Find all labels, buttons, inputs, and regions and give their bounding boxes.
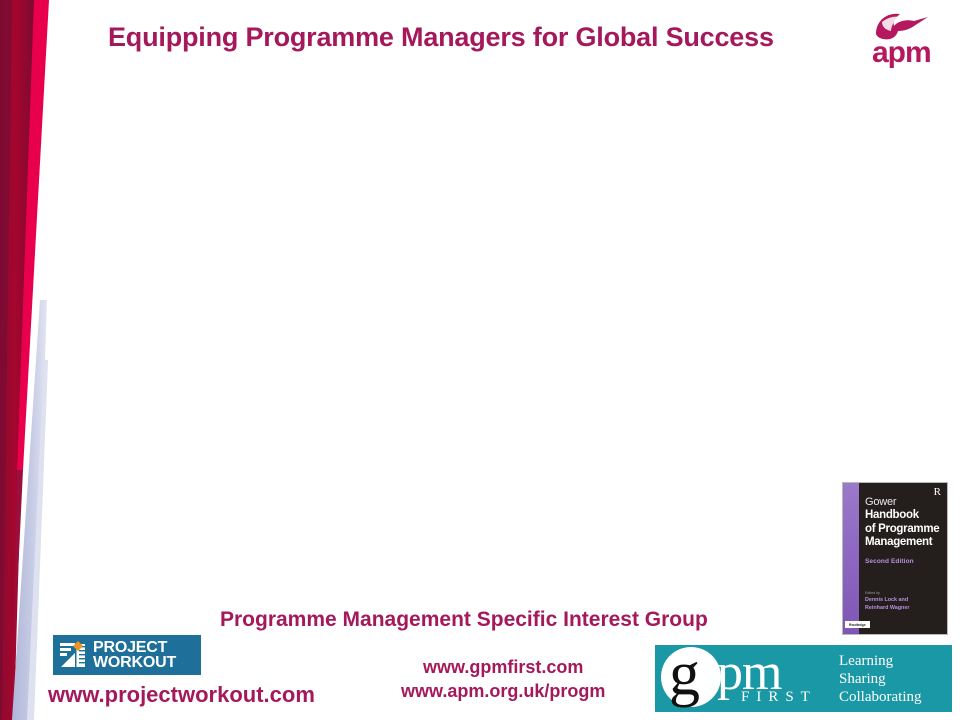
- gpm-first-word: FIRST: [741, 689, 817, 706]
- project-workout-logo: PROJECT WORKOUT: [53, 635, 201, 675]
- url-stack: www.gpmfirst.com www.apm.org.uk/progm: [401, 655, 605, 703]
- project-workout-line-2: WORKOUT: [93, 655, 176, 670]
- apm-progm-url[interactable]: www.apm.org.uk/progm: [401, 679, 605, 703]
- gpm-tagline-line-2: Sharing: [839, 670, 922, 688]
- book-title-line-2: of Programme: [865, 523, 942, 536]
- presentation-slide: Equipping Programme Managers for Global …: [0, 0, 960, 720]
- gpm-letter-g: g: [669, 645, 700, 707]
- book-author-line-2: Reinhard Wagner: [865, 605, 942, 612]
- book-cover: R Gower Handbook of Programme Management…: [843, 483, 947, 634]
- book-edition: Second Edition: [865, 558, 942, 565]
- book-edited-by-label: Edited by: [865, 591, 942, 595]
- book-series: Gower: [865, 496, 942, 508]
- book-title-line-3: Management: [865, 536, 942, 549]
- gpm-tagline-line-1: Learning: [839, 652, 922, 670]
- svg-text:apm: apm: [872, 36, 931, 68]
- apm-logo: apm: [864, 8, 956, 68]
- left-stripe-decoration: [0, 0, 140, 720]
- gpm-tagline-line-3: Collaborating: [839, 688, 922, 706]
- sig-subtitle: Programme Management Specific Interest G…: [220, 608, 800, 632]
- book-author-line-1: Dennis Lock and: [865, 597, 942, 604]
- gpm-first-logo: g pm FIRST Learning Sharing Collaboratin…: [655, 645, 952, 712]
- project-workout-url[interactable]: www.projectworkout.com: [48, 682, 315, 708]
- gpm-tagline: Learning Sharing Collaborating: [839, 652, 922, 706]
- gpmfirst-url[interactable]: www.gpmfirst.com: [401, 655, 605, 679]
- book-publisher: Routledge: [845, 621, 870, 628]
- book-title-line-1: Handbook: [865, 509, 942, 522]
- project-workout-line-1: PROJECT: [93, 640, 176, 655]
- slide-title: Equipping Programme Managers for Global …: [108, 22, 856, 53]
- bar-chart-arrow-icon: [59, 641, 89, 669]
- book-spine: [843, 483, 859, 634]
